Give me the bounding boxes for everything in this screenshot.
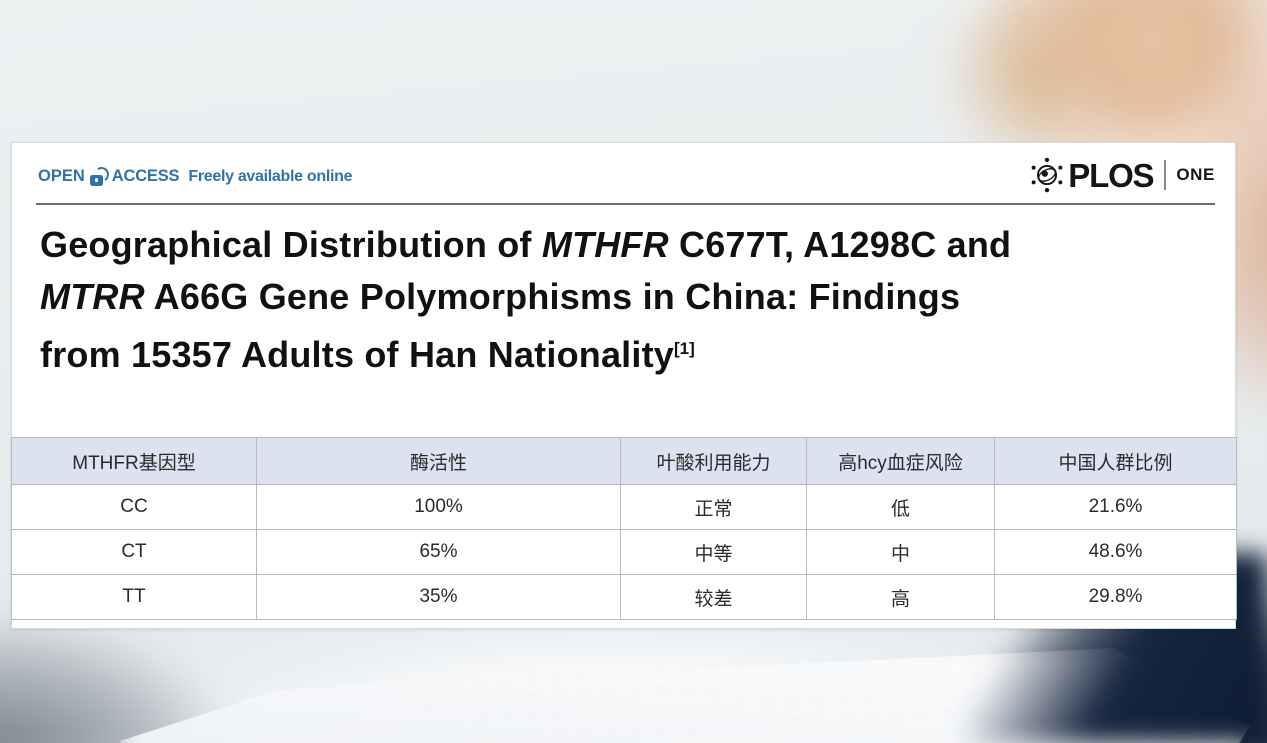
cell-genotype: TT — [12, 575, 257, 620]
cell-enzyme-activity: 35% — [257, 575, 621, 620]
logo-divider — [1164, 160, 1166, 190]
cell-population-share: 29.8% — [995, 575, 1237, 620]
cell-population-share: 21.6% — [995, 485, 1237, 530]
gene-name-mtrr: MTRR — [40, 276, 145, 317]
cell-population-share: 48.6% — [995, 530, 1237, 575]
open-access-access-label: ACCESS — [112, 167, 180, 186]
journal-masthead: OPEN ACCESS Freely available online — [12, 143, 1235, 205]
slide-canvas: OPEN ACCESS Freely available online — [0, 0, 1267, 743]
cell-enzyme-activity: 100% — [257, 485, 621, 530]
cell-folate-capacity: 中等 — [621, 530, 807, 575]
column-header-hcy-risk: 高hcy血症风险 — [807, 438, 995, 485]
column-header-folate-capacity: 叶酸利用能力 — [621, 438, 807, 485]
column-header-population-share: 中国人群比例 — [995, 438, 1237, 485]
journal-name-one: ONE — [1176, 165, 1215, 185]
plos-one-logo: PLOS ONE — [1028, 155, 1215, 195]
title-segment-4: from 15357 Adults of Han Nationality — [40, 334, 674, 375]
plos-wordmark: PLOS — [1068, 159, 1153, 192]
title-segment-1: Geographical Distribution of — [40, 224, 542, 265]
genotype-table: MTHFR基因型 酶活性 叶酸利用能力 高hcy血症风险 中国人群比例 CC 1… — [11, 437, 1237, 620]
column-header-genotype: MTHFR基因型 — [12, 438, 257, 485]
gene-name-mthfr: MTHFR — [542, 224, 669, 265]
column-header-enzyme-activity: 酶活性 — [257, 438, 621, 485]
cell-hcy-risk: 低 — [807, 485, 995, 530]
cell-folate-capacity: 正常 — [621, 485, 807, 530]
article-title: Geographical Distribution of MTHFR C677T… — [12, 205, 1235, 381]
table-header-row: MTHFR基因型 酶活性 叶酸利用能力 高hcy血症风险 中国人群比例 — [12, 438, 1237, 485]
cell-genotype: CT — [12, 530, 257, 575]
cell-hcy-risk: 高 — [807, 575, 995, 620]
cell-genotype: CC — [12, 485, 257, 530]
cell-folate-capacity: 较差 — [621, 575, 807, 620]
title-segment-2: C677T, A1298C and — [669, 224, 1011, 265]
cell-hcy-risk: 中 — [807, 530, 995, 575]
plos-orbit-icon — [1028, 156, 1066, 194]
table-row: CC 100% 正常 低 21.6% — [12, 485, 1237, 530]
open-access-open-label: OPEN — [38, 167, 85, 186]
table-row: TT 35% 较差 高 29.8% — [12, 575, 1237, 620]
cell-enzyme-activity: 65% — [257, 530, 621, 575]
open-access-banner: OPEN ACCESS Freely available online — [38, 167, 352, 186]
reference-marker: [1] — [674, 339, 695, 358]
freely-available-label: Freely available online — [188, 168, 352, 186]
masthead-rule — [36, 203, 1215, 205]
title-segment-3: A66G Gene Polymorphisms in China: Findin… — [145, 276, 960, 317]
genotype-table-wrap: MTHFR基因型 酶活性 叶酸利用能力 高hcy血症风险 中国人群比例 CC 1… — [11, 437, 1236, 620]
table-row: CT 65% 中等 中 48.6% — [12, 530, 1237, 575]
open-lock-icon — [90, 167, 106, 186]
